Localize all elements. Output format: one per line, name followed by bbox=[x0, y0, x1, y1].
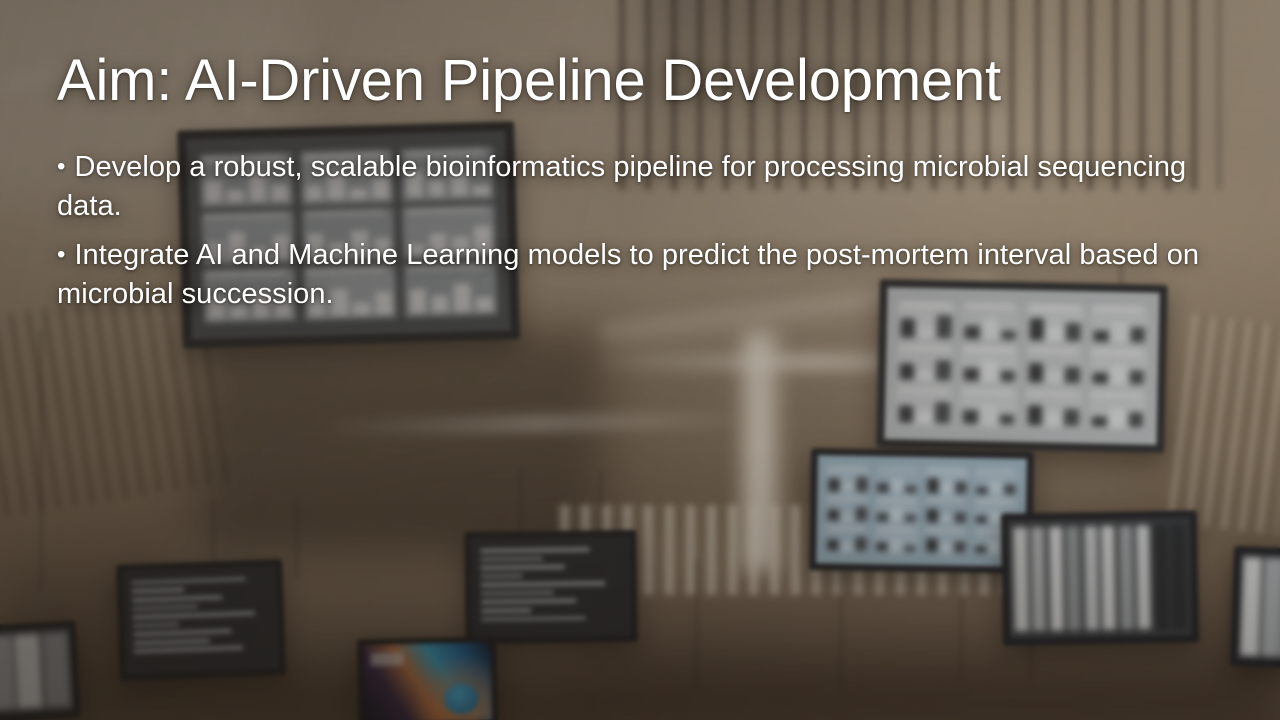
slide-title: Aim: AI-Driven Pipeline Development bbox=[57, 50, 1207, 113]
bullet-text: Integrate AI and Machine Learning models… bbox=[57, 239, 1199, 310]
slide: Aim: AI-Driven Pipeline Development •Dev… bbox=[0, 0, 1280, 720]
bullet-list: •Develop a robust, scalable bioinformati… bbox=[57, 147, 1225, 323]
bullet-item: •Develop a robust, scalable bioinformati… bbox=[57, 147, 1225, 226]
bullet-marker-icon: • bbox=[57, 241, 65, 268]
slide-content: Aim: AI-Driven Pipeline Development •Dev… bbox=[0, 0, 1280, 720]
bullet-item: •Integrate AI and Machine Learning model… bbox=[57, 235, 1225, 314]
bullet-marker-icon: • bbox=[57, 153, 65, 180]
bullet-text: Develop a robust, scalable bioinformatic… bbox=[57, 151, 1186, 222]
